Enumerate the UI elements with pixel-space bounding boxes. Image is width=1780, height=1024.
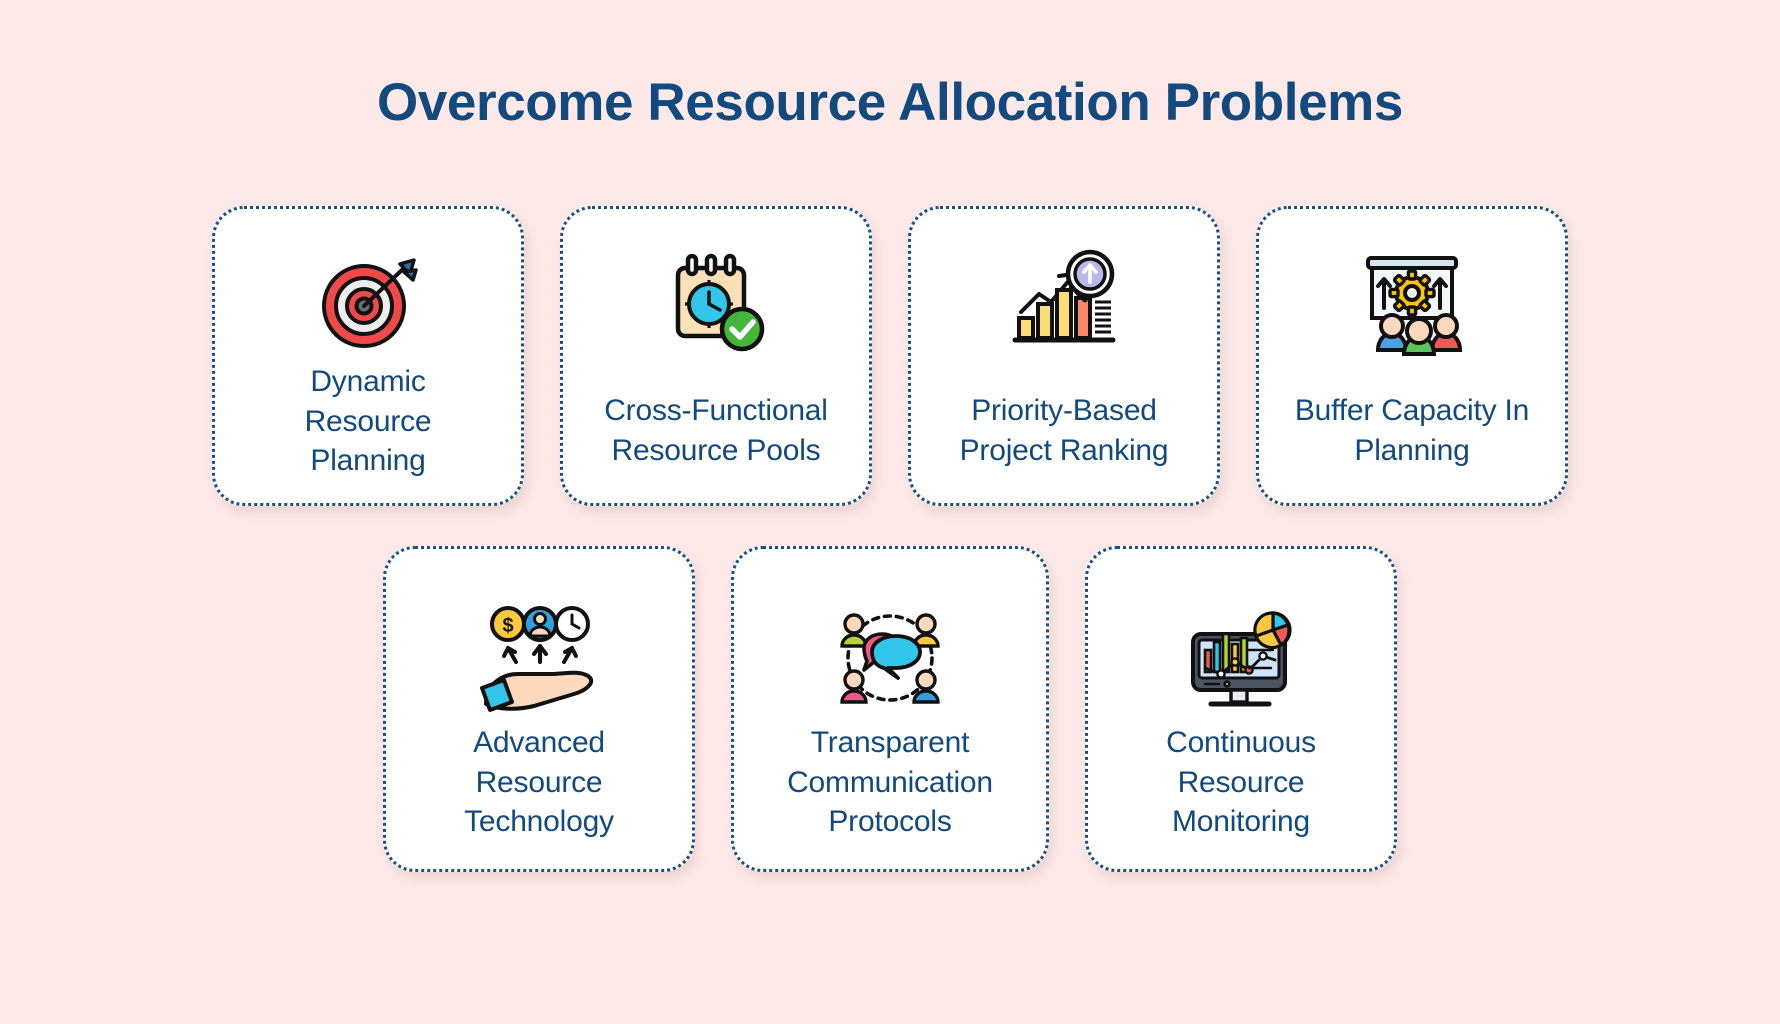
card-label: Priority-Based Project Ranking — [960, 391, 1169, 470]
team-communication-icon — [834, 599, 946, 717]
card-buffer-capacity-in-planning[interactable]: Buffer Capacity In Planning — [1256, 206, 1568, 506]
slide-root: Overcome Resource Allocation Problems Dy… — [0, 0, 1780, 1024]
card-priority-based-project-ranking[interactable]: Priority-Based Project Ranking — [908, 206, 1220, 506]
card-continuous-resource-monitoring[interactable]: Continuous Resource Monitoring — [1085, 546, 1397, 872]
hand-resources-icon: $ — [478, 599, 600, 717]
card-label: Continuous Resource Monitoring — [1166, 723, 1316, 841]
card-label: Advanced Resource Technology — [464, 723, 614, 841]
card-cross-functional-resource-pools[interactable]: Cross-Functional Resource Pools — [560, 206, 872, 506]
presentation-gear-team-icon — [1356, 243, 1468, 361]
card-row-1: Dynamic Resource Planning — [212, 206, 1568, 506]
target-arrow-icon — [316, 243, 420, 361]
card-transparent-communication-protocols[interactable]: Transparent Communication Protocols — [731, 546, 1049, 872]
calendar-clock-check-icon — [664, 243, 768, 361]
svg-text:$: $ — [502, 615, 513, 637]
card-label: Buffer Capacity In Planning — [1295, 391, 1529, 470]
card-row-2: $ — [383, 546, 1397, 872]
card-label: Transparent Communication Protocols — [787, 723, 993, 841]
card-dynamic-resource-planning[interactable]: Dynamic Resource Planning — [212, 206, 524, 506]
card-advanced-resource-technology[interactable]: $ — [383, 546, 695, 872]
monitor-dashboard-icon — [1185, 599, 1297, 717]
page-title: Overcome Resource Allocation Problems — [377, 74, 1403, 132]
bar-chart-magnifier-icon — [1011, 243, 1117, 361]
card-label: Dynamic Resource Planning — [305, 362, 432, 480]
card-label: Cross-Functional Resource Pools — [604, 391, 828, 470]
